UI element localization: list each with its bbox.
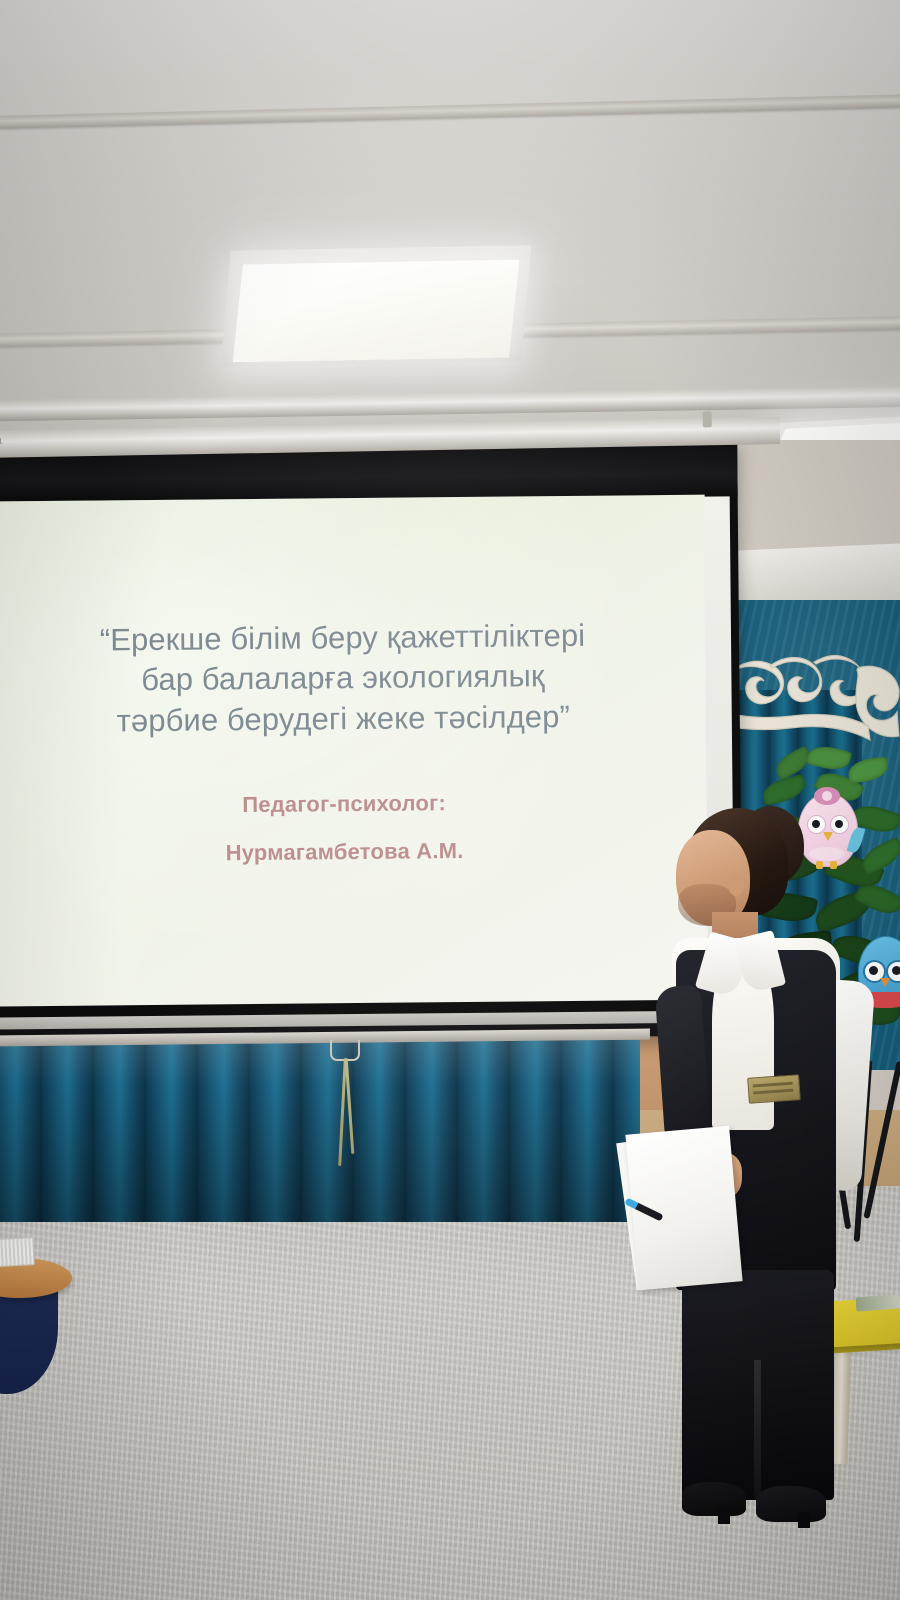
presentation-photo: 2701 “Ерекше білім беру қажеттіліктері б… [0, 0, 900, 1600]
rail-bracket [703, 411, 712, 427]
slide-title: “Ерекше білім беру қажеттіліктері бар ба… [8, 615, 678, 742]
ear [728, 874, 744, 896]
slide-role-label: Педагог-психолог: [242, 790, 446, 818]
rail-marking: 2701 [0, 438, 3, 447]
slide-title-line-2: бар балаларға экологиялық [8, 655, 677, 702]
white-basket [0, 1237, 35, 1267]
led-panel-center [233, 260, 520, 363]
leg-separation [754, 1360, 761, 1502]
slide-content: “Ерекше білім беру қажеттіліктері бар ба… [0, 495, 709, 1007]
right-shoe [756, 1486, 826, 1522]
right-shoe-heel [798, 1512, 810, 1528]
name-badge [747, 1074, 801, 1104]
slide-title-line-3: тәрбие берудегі жеке тәсілдер” [9, 696, 678, 743]
slide-title-line-1: “Ерекше білім беру қажеттіліктері [8, 615, 677, 662]
stage-curtain [0, 1040, 640, 1222]
left-shoe [682, 1482, 746, 1516]
slide-presenter-name: Нурмагамбетова А.М. [226, 838, 464, 866]
left-shoe-heel [718, 1508, 730, 1524]
presenter-person [620, 800, 870, 1540]
